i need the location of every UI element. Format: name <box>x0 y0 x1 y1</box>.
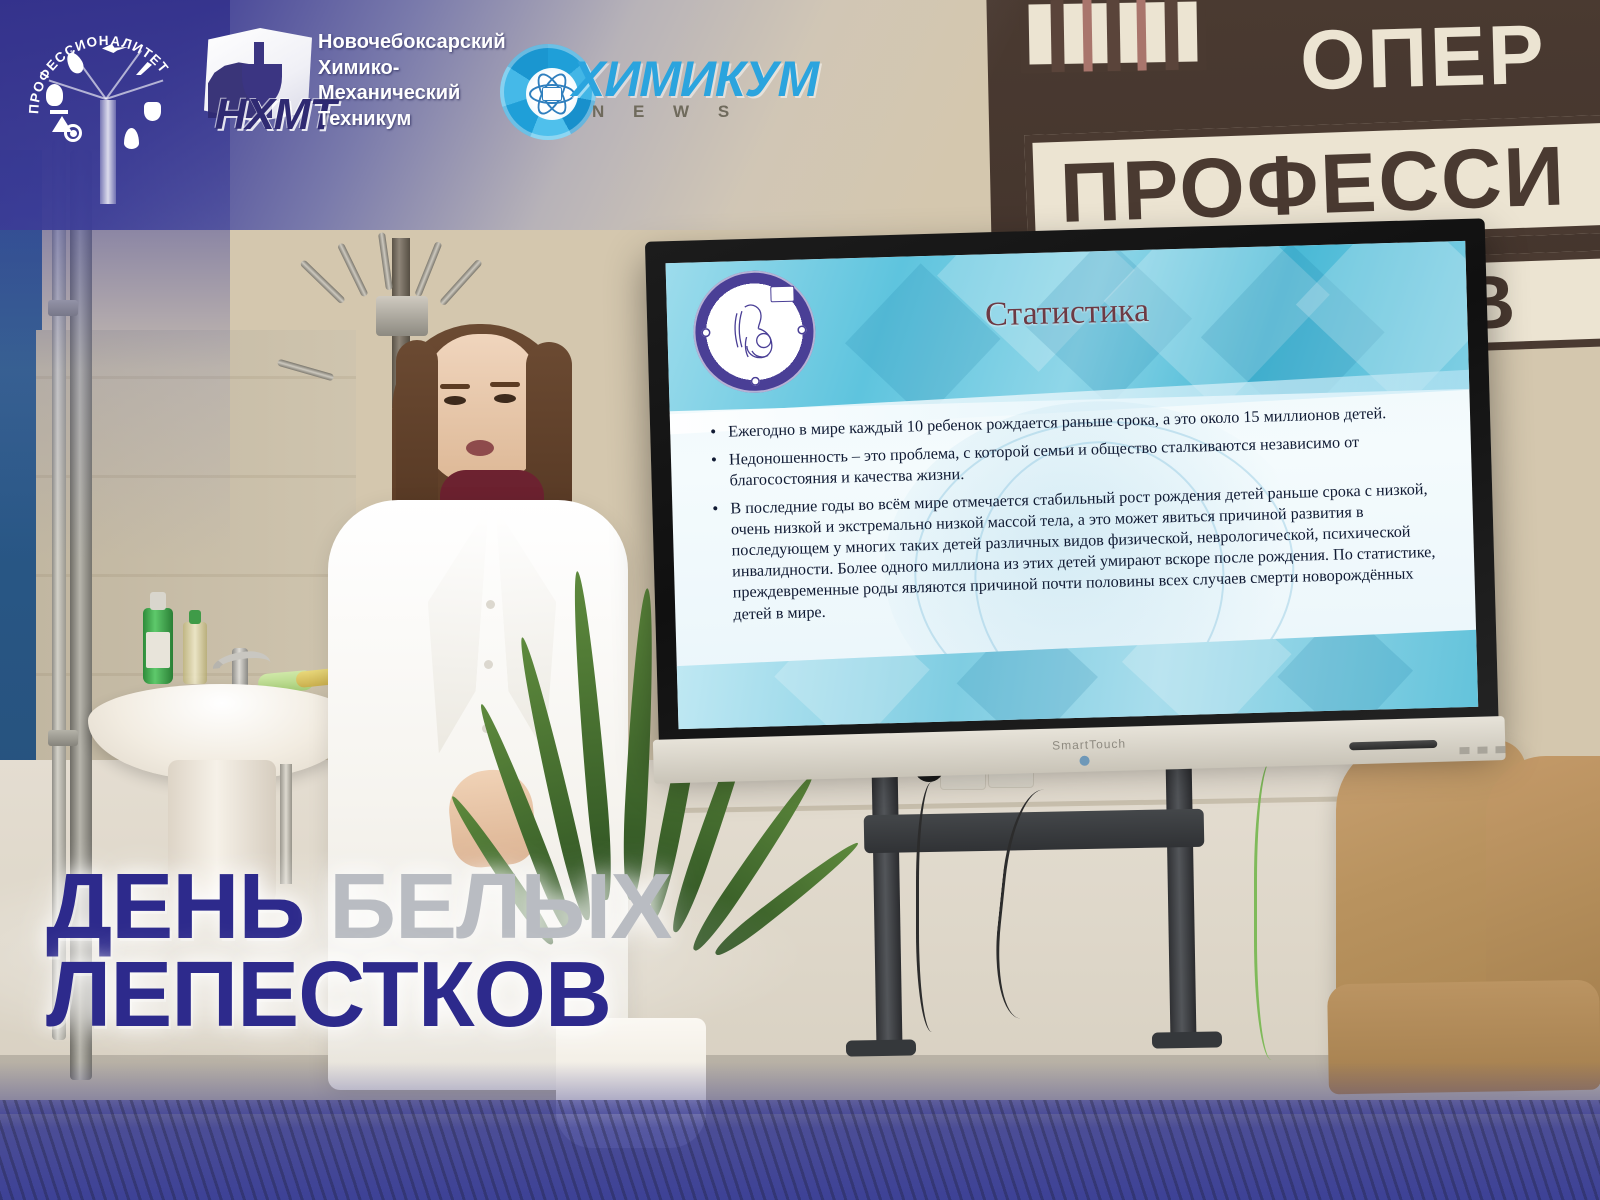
atom-icon <box>526 68 578 120</box>
nhmt-full-name: Новочебоксарский Химико- Механический Те… <box>318 30 498 132</box>
nhmt-name-line-2: Химико- <box>318 56 498 82</box>
interactive-display[interactable]: Статистика Ежегодно в мире каждый 10 реб… <box>645 218 1499 761</box>
bottom-bar-texture <box>0 1100 1600 1200</box>
emblem-badge-icon <box>770 286 794 303</box>
nhmt-name-line-1: Новочебоксарский <box>318 30 498 56</box>
himikum-news-sub: N E W S <box>592 102 741 122</box>
gauge-base-line <box>50 110 68 114</box>
overlay-title: ДЕНЬ БЕЛЫХ ЛЕПЕСТКОВ <box>46 862 806 1039</box>
tv-stand-column <box>1165 752 1196 1044</box>
tv-stand-column <box>871 760 902 1050</box>
wall-sign-oper: ОПЕР <box>1299 4 1600 109</box>
badge-stem <box>100 100 116 204</box>
tv-stand-foot <box>1152 1031 1222 1048</box>
overlay-title-line-2: ЛЕПЕСТКОВ <box>46 950 806 1038</box>
soap-bottle-clear <box>183 622 207 684</box>
overlay-title-line-1: ДЕНЬ БЕЛЫХ <box>46 862 806 950</box>
himikum-wordmark: ХИМИКУМ <box>572 50 818 108</box>
himikum-news-logo: ХИМИКУМ N E W S <box>500 44 770 144</box>
slide-bullet-list: Ежегодно в мире каждый 10 ребенок рождае… <box>708 401 1454 632</box>
power-cable <box>916 782 956 1032</box>
nhmt-name-line-4: Техникум <box>318 107 498 133</box>
soap-label <box>146 632 170 668</box>
poster-stripe <box>1136 0 1146 71</box>
screenshot-canvas: ОПЕР ПРОФЕССИ В <box>0 0 1600 1200</box>
shield-icon <box>144 102 161 121</box>
decor-diamond <box>774 630 929 729</box>
bottom-brand-bar <box>0 1100 1600 1200</box>
tv-stand-foot <box>846 1039 916 1056</box>
pipe-clamp <box>48 730 78 746</box>
emblem-star-icon <box>751 377 760 386</box>
poster-stripe <box>1164 0 1178 70</box>
presentation-slide: Статистика Ежегодно в мире каждый 10 реб… <box>666 241 1479 729</box>
atom-core-icon <box>542 87 562 101</box>
nhmt-logo: НХМТ Новочебоксарский Химико- Механическ… <box>200 28 490 152</box>
network-cable <box>1254 760 1298 1060</box>
nhmt-name-line-3: Механический <box>318 81 498 107</box>
flower-icon <box>46 84 63 106</box>
display-ports <box>1459 746 1511 754</box>
professionalitet-badge: ПРОФЕССИОНАЛИТЕТ <box>24 16 188 182</box>
slide-bullet: В последние годы во всём мире отмечается… <box>710 479 1453 626</box>
